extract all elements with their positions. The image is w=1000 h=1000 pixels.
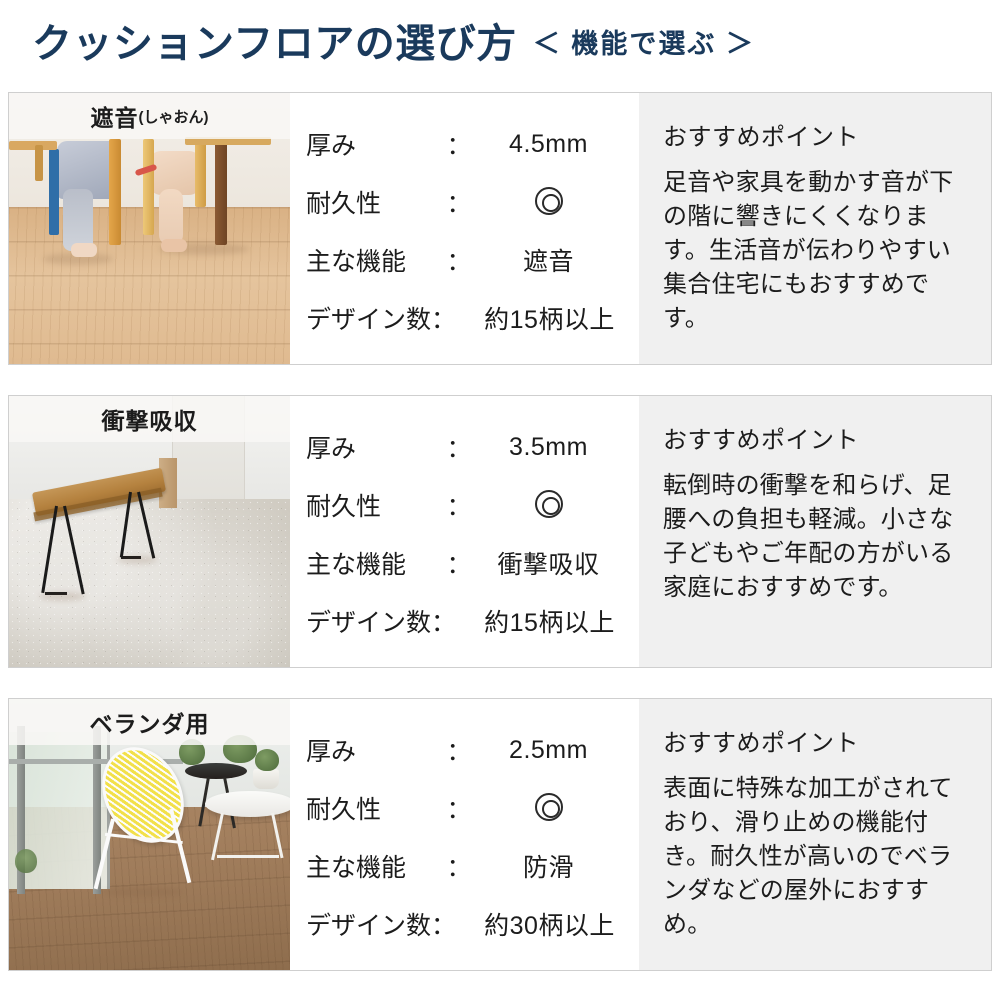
spec-value-main-function: 防滑 — [476, 848, 621, 884]
spec-colon: ： — [442, 848, 476, 884]
spec-label-design-count: デザイン数： — [306, 906, 478, 942]
spec-value-thickness: 4.5mm — [476, 130, 621, 159]
page-header: クッションフロアの選び方 ＜ 機能で選ぶ ＞ — [0, 0, 1000, 88]
spec-label-durability: 耐久性 — [306, 184, 442, 220]
card-photo-label: ベランダ用 — [9, 699, 290, 745]
spec-row-thickness: 厚み ： 3.5mm — [306, 418, 621, 476]
recommendation-heading: おすすめポイント — [663, 420, 969, 455]
spec-value-main-function: 衝撃吸収 — [476, 545, 621, 581]
page-subtitle: ＜ 機能で選ぶ ＞ — [533, 31, 755, 58]
card-furigana: (しゃおん) — [139, 106, 209, 127]
spec-label-design-count: デザイン数： — [306, 300, 478, 336]
spec-value-durability — [476, 490, 621, 520]
double-circle-icon — [535, 187, 563, 215]
spec-colon: ： — [442, 126, 476, 162]
double-circle-icon — [535, 490, 563, 518]
spec-value-durability — [476, 793, 621, 823]
card-spec-list: 厚み ： 3.5mm 耐久性 ： 主な機能 ： 衝撃吸収 デザイン数： 約15柄… — [290, 396, 639, 667]
card-recommendation: おすすめポイント 足音や家具を動かす音が下の階に響きにくくなります。生活音が伝わ… — [639, 93, 991, 364]
spec-colon: ： — [442, 242, 476, 278]
spec-value-design-count: 約15柄以上 — [478, 603, 621, 639]
spec-colon: ： — [442, 790, 476, 826]
spec-value-thickness: 2.5mm — [476, 736, 621, 765]
spec-row-main-function: 主な機能 ： 防滑 — [306, 837, 621, 895]
spec-value-main-function: 遮音 — [476, 242, 621, 278]
page-title: クッションフロアの選び方 — [32, 24, 517, 64]
spec-row-design-count: デザイン数： 約30柄以上 — [306, 895, 621, 953]
spec-label-main-function: 主な機能 — [306, 242, 442, 278]
spec-label-thickness: 厚み — [306, 429, 442, 465]
spec-colon: ： — [442, 429, 476, 465]
spec-value-design-count: 約30柄以上 — [478, 906, 621, 942]
card-name: ベランダ用 — [90, 705, 210, 739]
spec-row-main-function: 主な機能 ： 遮音 — [306, 231, 621, 289]
card-photo-label: 遮音(しゃおん) — [9, 93, 290, 139]
card-recommendation: おすすめポイント 表面に特殊な加工がされており、滑り止めの機能付き。耐久性が高い… — [639, 699, 991, 970]
card-spec-list: 厚み ： 4.5mm 耐久性 ： 主な機能 ： 遮音 デザイン数： 約15柄以上 — [290, 93, 639, 364]
recommendation-body: 表面に特殊な加工がされており、滑り止めの機能付き。耐久性が高いのでベランダなどの… — [663, 772, 969, 942]
card-recommendation: おすすめポイント 転倒時の衝撃を和らげ、足腰への負担も軽減。小さな子どもやご年配… — [639, 396, 991, 667]
spec-label-durability: 耐久性 — [306, 790, 442, 826]
spec-row-durability: 耐久性 ： — [306, 173, 621, 231]
spec-value-design-count: 約15柄以上 — [478, 300, 621, 336]
recommendation-heading: おすすめポイント — [663, 723, 969, 758]
recommendation-heading: おすすめポイント — [663, 117, 969, 152]
spec-label-thickness: 厚み — [306, 126, 442, 162]
card-name: 遮音 — [91, 99, 139, 133]
spec-value-durability — [476, 187, 621, 217]
spec-row-design-count: デザイン数： 約15柄以上 — [306, 592, 621, 650]
spec-label-design-count: デザイン数： — [306, 603, 478, 639]
card-spec-list: 厚み ： 2.5mm 耐久性 ： 主な機能 ： 防滑 デザイン数： 約30柄以上 — [290, 699, 639, 970]
card-photo: 衝撃吸収 — [9, 396, 290, 667]
card-photo: ベランダ用 — [9, 699, 290, 970]
spec-row-main-function: 主な機能 ： 衝撃吸収 — [306, 534, 621, 592]
card-photo-label: 衝撃吸収 — [9, 396, 290, 442]
spec-colon: ： — [442, 487, 476, 523]
spec-label-main-function: 主な機能 — [306, 848, 442, 884]
product-card[interactable]: 遮音(しゃおん) 厚み ： 4.5mm 耐久性 ： 主な機能 ： 遮音 デザイン… — [8, 92, 992, 365]
spec-label-durability: 耐久性 — [306, 487, 442, 523]
recommendation-body: 転倒時の衝撃を和らげ、足腰への負担も軽減。小さな子どもやご年配の方がいる家庭にお… — [663, 469, 969, 605]
spec-row-thickness: 厚み ： 4.5mm — [306, 115, 621, 173]
infographic-page: クッションフロアの選び方 ＜ 機能で選ぶ ＞ — [0, 0, 1000, 1000]
recommendation-body: 足音や家具を動かす音が下の階に響きにくくなります。生活音が伝わりやすい集合住宅に… — [663, 166, 969, 336]
spec-colon: ： — [442, 545, 476, 581]
spec-colon: ： — [442, 184, 476, 220]
spec-row-thickness: 厚み ： 2.5mm — [306, 721, 621, 779]
card-name: 衝撃吸収 — [102, 402, 198, 436]
spec-label-thickness: 厚み — [306, 732, 442, 768]
spec-label-main-function: 主な機能 — [306, 545, 442, 581]
product-card[interactable]: 衝撃吸収 厚み ： 3.5mm 耐久性 ： 主な機能 ： 衝撃吸収 デザイン数：… — [8, 395, 992, 668]
card-photo: 遮音(しゃおん) — [9, 93, 290, 364]
product-card[interactable]: ベランダ用 厚み ： 2.5mm 耐久性 ： 主な機能 ： 防滑 デザイン数： … — [8, 698, 992, 971]
double-circle-icon — [535, 793, 563, 821]
spec-colon: ： — [442, 732, 476, 768]
spec-row-durability: 耐久性 ： — [306, 476, 621, 534]
spec-row-durability: 耐久性 ： — [306, 779, 621, 837]
spec-value-thickness: 3.5mm — [476, 433, 621, 462]
spec-row-design-count: デザイン数： 約15柄以上 — [306, 289, 621, 347]
